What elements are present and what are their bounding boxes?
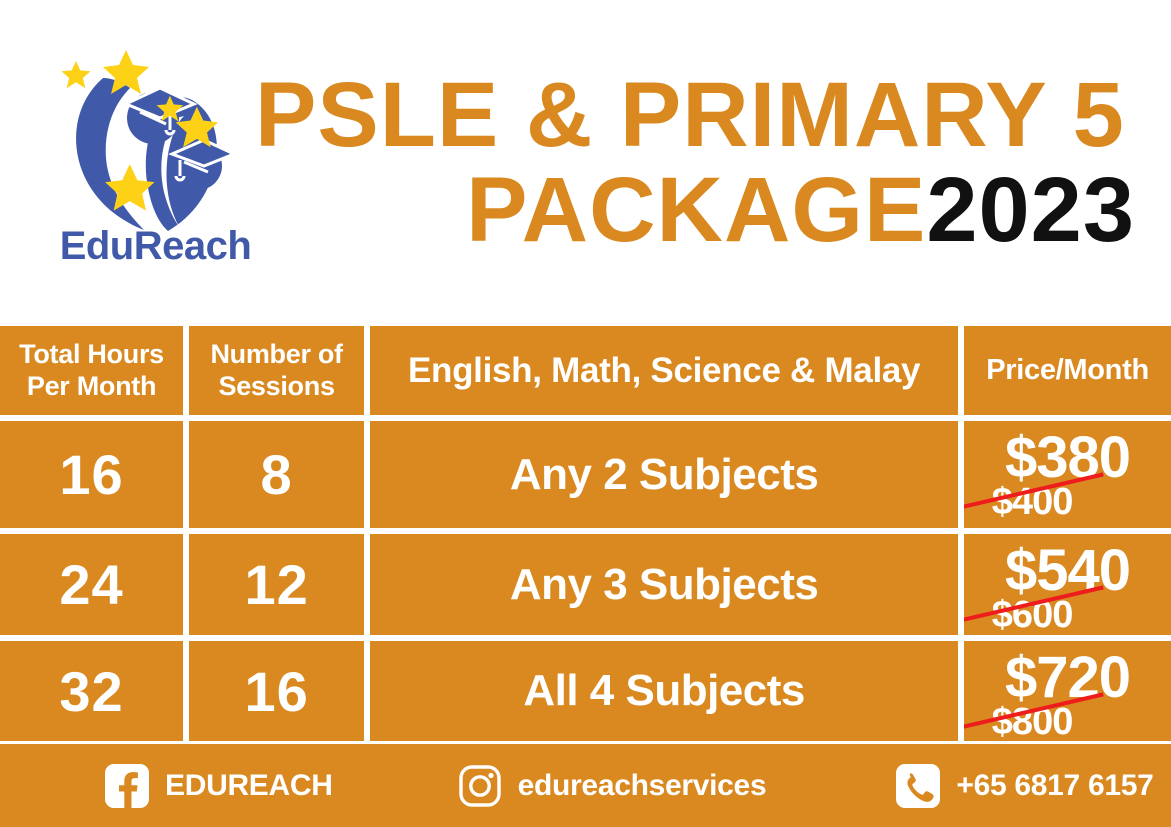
title-line-1: PSLE & PRIMARY 5 [255,72,1135,159]
header-price-label: Price/Month [986,354,1149,387]
table-header-row: Total Hours Per Month Number of Sessions… [0,326,1171,415]
value-price-old-group: $400 [972,483,1092,527]
value-total-hours: 24 [59,552,123,617]
value-price-new: $380 [964,429,1171,487]
value-total-hours: 16 [59,442,123,507]
facebook-handle: EDUREACH [165,769,333,803]
value-price-new: $720 [964,649,1171,707]
contact-footer: EDUREACH edureachservices +65 6817 6157 [0,744,1171,827]
pricing-table: Total Hours Per Month Number of Sessions… [0,326,1171,740]
instagram-icon [458,764,502,808]
header-number-of-sessions: Number of Sessions [189,326,364,415]
value-total-hours: 32 [59,659,123,724]
value-subjects: All 4 Subjects [523,666,805,716]
brand-logo: EduReach [48,48,263,280]
value-price-new: $540 [964,542,1171,600]
cell-price: $540 $600 [964,534,1171,635]
cell-sessions: 8 [189,421,364,528]
cell-total-hours: 16 [0,421,183,528]
cell-price: $720 $800 [964,641,1171,741]
table-row: 32 16 All 4 Subjects $720 $800 [0,641,1171,741]
header-subjects: English, Math, Science & Malay [370,326,958,415]
value-subjects: Any 3 Subjects [510,560,818,610]
phone-contact[interactable]: +65 6817 6157 [896,764,1153,808]
value-sessions: 12 [244,552,308,617]
value-price-old: $400 [992,481,1073,523]
table-row: 16 8 Any 2 Subjects $380 $400 [0,421,1171,528]
value-subjects: Any 2 Subjects [510,450,818,500]
cell-price: $380 $400 [964,421,1171,528]
header-sessions-line2: Sessions [210,371,342,403]
header-total-hours-line1: Total Hours [19,339,164,371]
phone-icon [896,764,940,808]
facebook-contact[interactable]: EDUREACH [105,764,333,808]
brand-wordmark: EduReach [48,226,263,266]
title-line-2: PACKAGE2023 [255,167,1135,254]
value-price-old: $600 [992,594,1073,635]
cell-subjects: Any 2 Subjects [370,421,958,528]
value-sessions: 16 [244,659,308,724]
edureach-graduates-stars-logo [48,48,263,233]
poster-title: PSLE & PRIMARY 5 PACKAGE2023 [255,72,1135,255]
cell-total-hours: 32 [0,641,183,741]
value-sessions: 8 [261,442,293,507]
poster-header: EduReach PSLE & PRIMARY 5 PACKAGE2023 [0,0,1171,326]
cell-subjects: Any 3 Subjects [370,534,958,635]
title-year: 2023 [926,159,1135,261]
phone-number: +65 6817 6157 [956,769,1153,803]
header-sessions-line1: Number of [210,339,342,371]
header-total-hours-line2: Per Month [19,371,164,403]
instagram-handle: edureachservices [518,769,767,803]
table-row: 24 12 Any 3 Subjects $540 $600 [0,534,1171,635]
header-price-per-month: Price/Month [964,326,1171,415]
cell-total-hours: 24 [0,534,183,635]
facebook-icon [105,764,149,808]
header-total-hours: Total Hours Per Month [0,326,183,415]
cell-sessions: 16 [189,641,364,741]
instagram-contact[interactable]: edureachservices [458,764,767,808]
value-price-old: $800 [992,701,1073,741]
cell-sessions: 12 [189,534,364,635]
header-subjects-label: English, Math, Science & Malay [408,351,920,391]
value-price-old-group: $600 [972,596,1092,635]
title-package-word: PACKAGE [466,159,926,261]
cell-subjects: All 4 Subjects [370,641,958,741]
value-price-old-group: $800 [972,703,1092,741]
